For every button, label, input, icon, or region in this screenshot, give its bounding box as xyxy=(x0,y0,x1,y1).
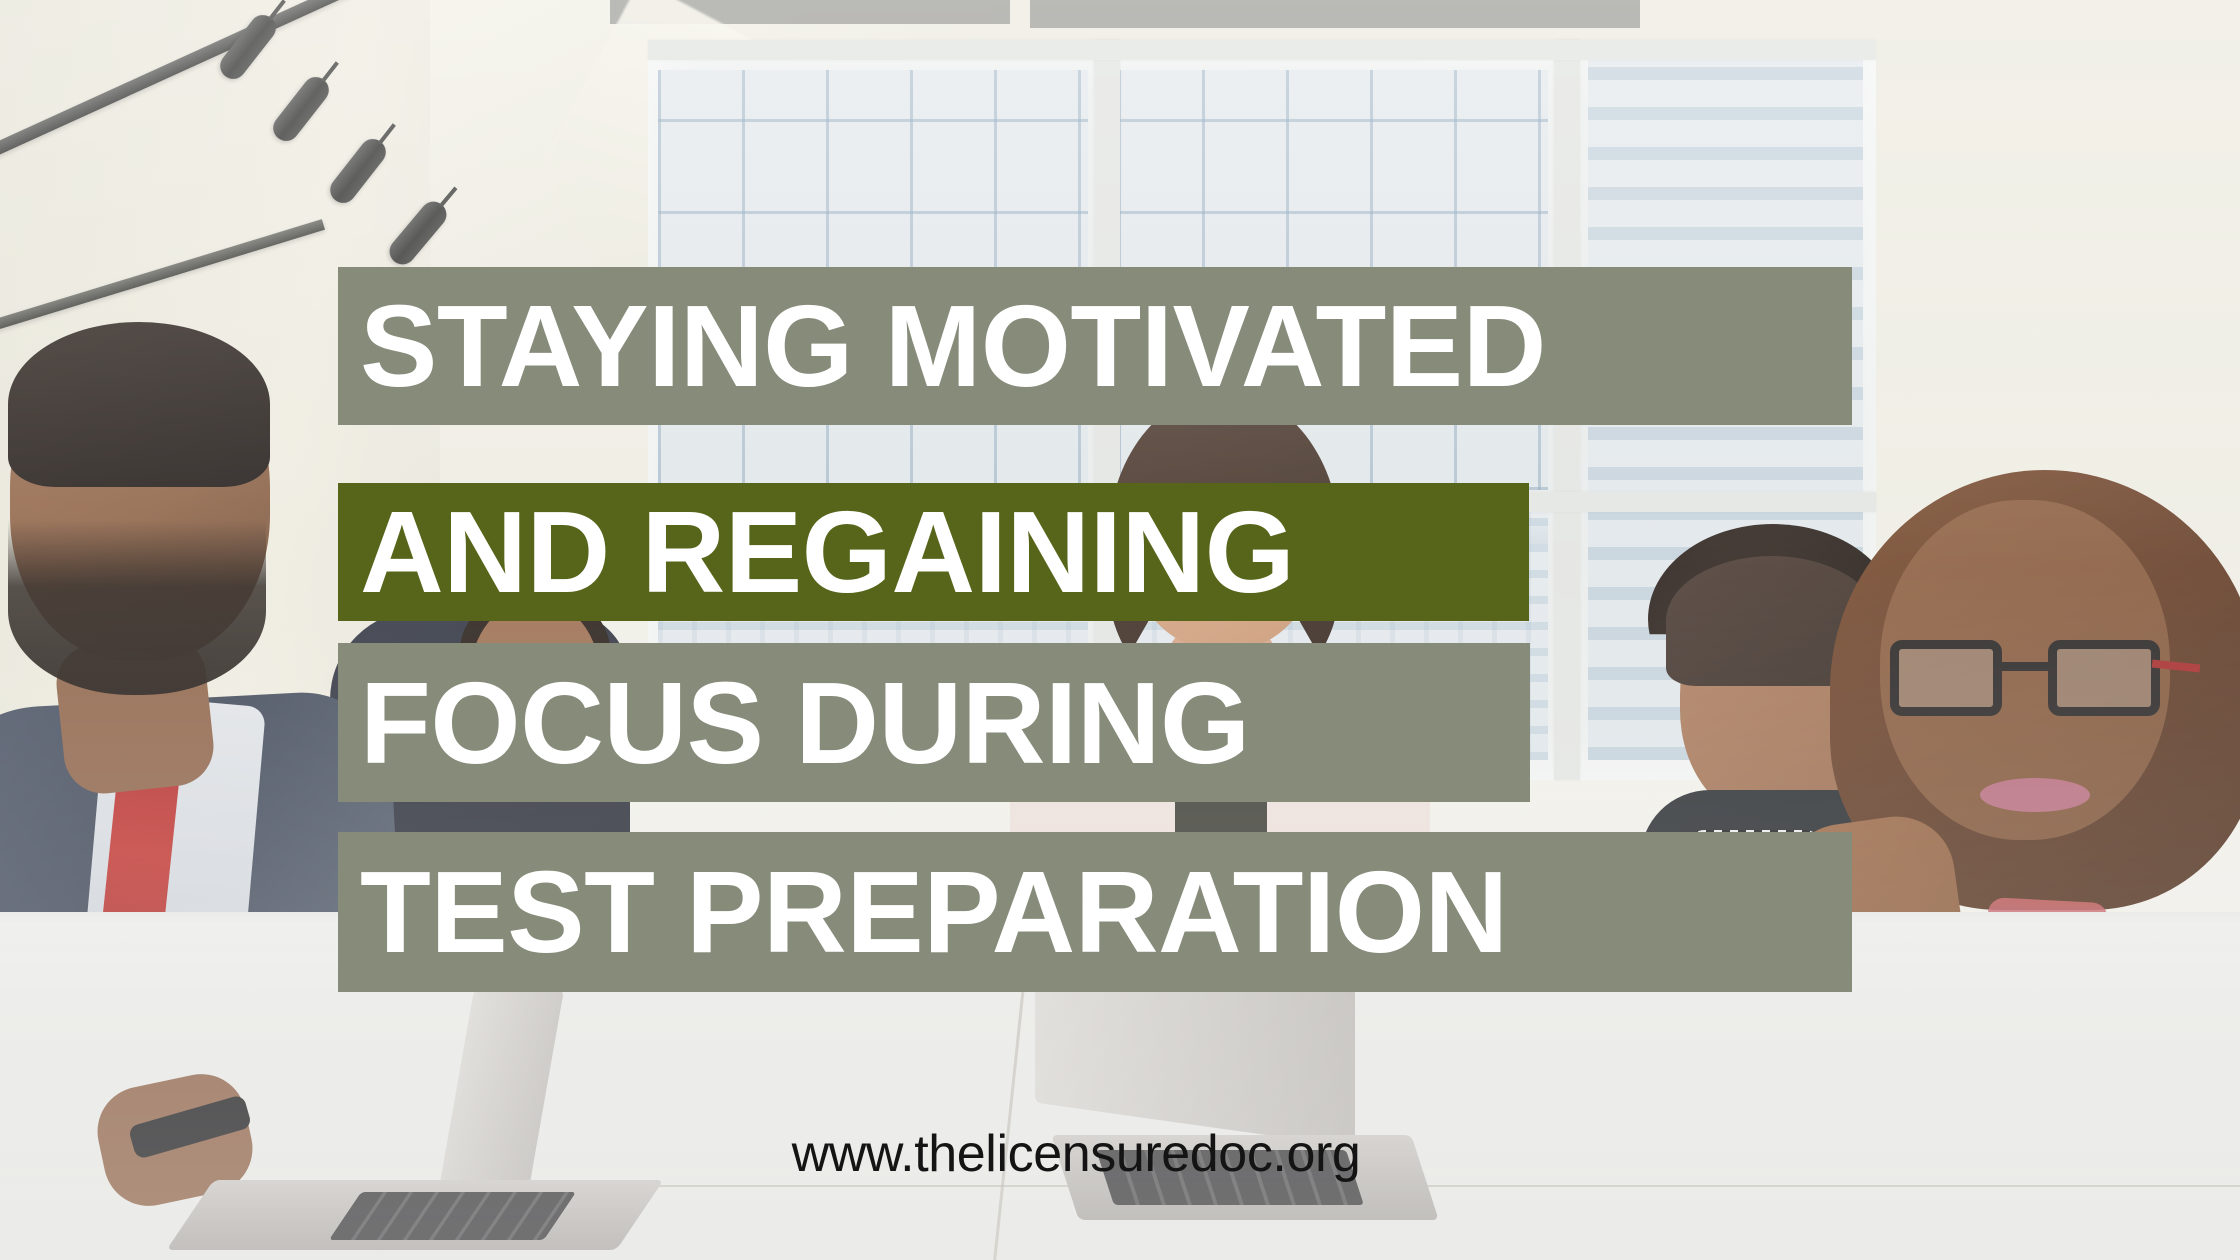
title-block: STAYING MOTIVATED AND REGAINING FOCUS DU… xyxy=(0,0,2240,1260)
title-line-3-text: FOCUS DURING xyxy=(338,665,1250,781)
website-url-text: www.thelicensuredoc.org xyxy=(792,1124,1361,1184)
website-url: www.thelicensuredoc.org xyxy=(0,1124,2240,1184)
title-line-2-band: AND REGAINING xyxy=(338,483,1529,621)
title-line-2-text: AND REGAINING xyxy=(338,494,1294,610)
title-line-4-band: TEST PREPARATION xyxy=(338,832,1852,992)
title-line-1-band: STAYING MOTIVATED xyxy=(338,267,1852,425)
title-line-4-text: TEST PREPARATION xyxy=(338,854,1508,970)
title-line-3-band: FOCUS DURING xyxy=(338,643,1530,802)
title-line-1-text: STAYING MOTIVATED xyxy=(338,288,1546,404)
title-card: STAYING MOTIVATED AND REGAINING FOCUS DU… xyxy=(0,0,2240,1260)
